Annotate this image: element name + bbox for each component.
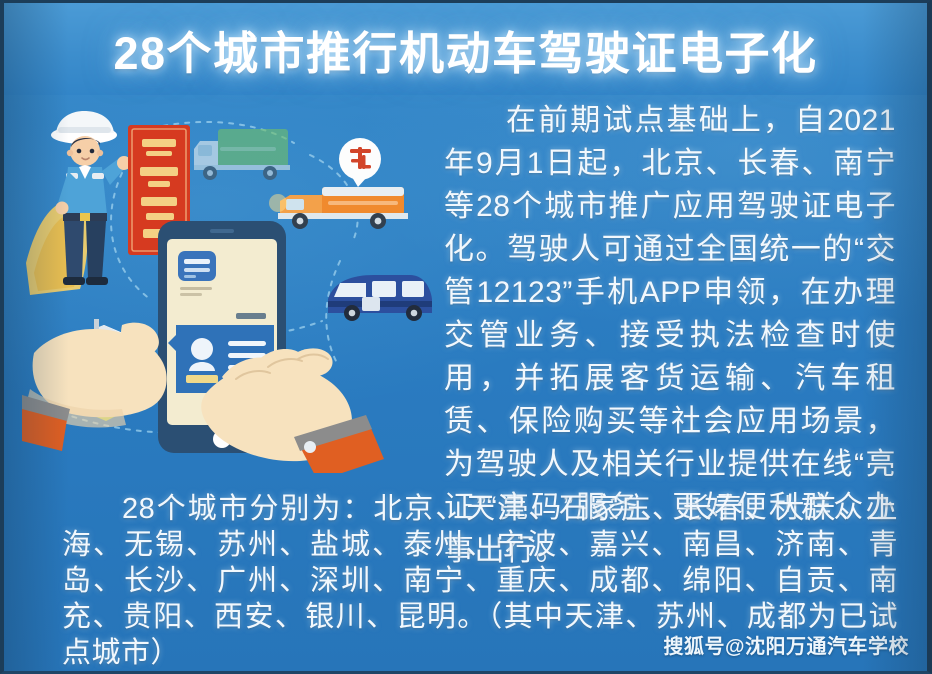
right-hand-icon bbox=[201, 348, 384, 473]
green-cargo-truck-icon bbox=[194, 129, 290, 180]
white-government-building-icon bbox=[40, 319, 158, 421]
red-vertical-banner-icon bbox=[128, 125, 190, 255]
traffic-police-officer-icon bbox=[26, 111, 131, 295]
blue-van-icon bbox=[328, 275, 432, 321]
insurance-badge-icon bbox=[339, 138, 381, 187]
infographic-poster: 28个城市推行机动车驾驶证电子化 bbox=[0, 0, 932, 674]
dotted-connector-lines bbox=[62, 122, 358, 433]
illustration-scene bbox=[22, 103, 442, 473]
orange-delivery-truck-icon bbox=[269, 138, 408, 229]
app-tile-icon bbox=[178, 251, 216, 296]
left-hand-icon bbox=[22, 323, 167, 451]
smartphone-in-hands-icon bbox=[158, 221, 286, 453]
digital-license-card-icon bbox=[168, 313, 282, 401]
watermark-label: 搜狐号@沈阳万通汽车学校 bbox=[663, 630, 909, 659]
page-title: 28个城市推行机动车驾驶证电子化 bbox=[4, 17, 927, 82]
